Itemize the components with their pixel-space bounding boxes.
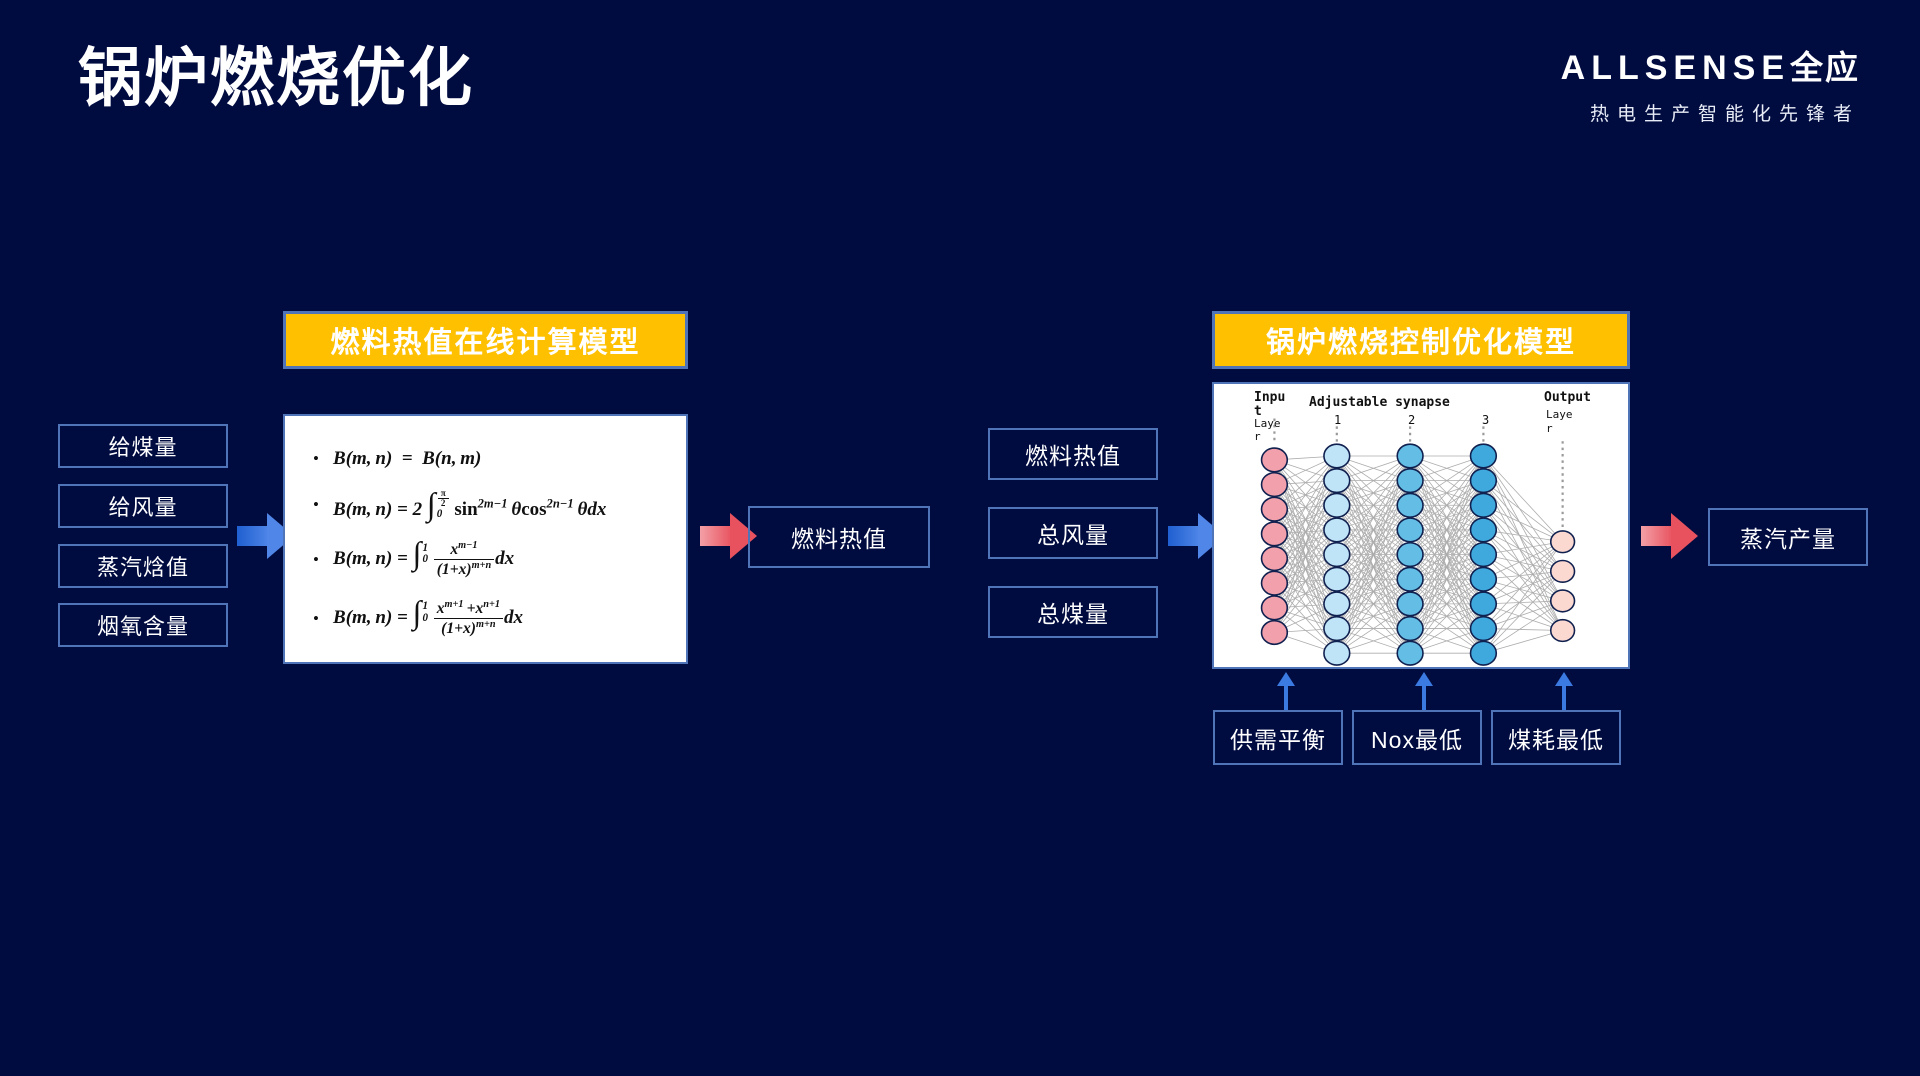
formula-math-2: B(m, n) = 2 ∫π20 sin2m−1 θcos2n−1 θdx [333, 489, 606, 521]
formula-row-2: • B(m, n) = 2 ∫π20 sin2m−1 θcos2n−1 θdx [299, 489, 672, 521]
hidden-layer-2-nodes [1397, 444, 1423, 665]
constraint-box-2[interactable]: Nox最低 [1352, 710, 1482, 765]
logo-brand-cn: 全应 [1790, 49, 1860, 86]
nn-input-layer-label-line1: Inpu [1254, 390, 1285, 405]
nn-output-layer-label-line1: Output [1544, 390, 1591, 405]
formula-row-3: • B(m, n) = ∫10 xm−1(1+x)m+ndx [299, 540, 672, 579]
formula-row-1: • B(m, n) = B(n, m) [299, 448, 672, 470]
arrow-head [1671, 513, 1698, 559]
formula-row-4: • B(m, n) = ∫10 xm+1 +xn+1(1+x)m+ndx [299, 599, 672, 638]
arrow-shaft [1641, 526, 1673, 546]
arrow-model2-to-output [1641, 513, 1697, 559]
arrow-shaft [1562, 684, 1566, 712]
stage1-input-box-3[interactable]: 蒸汽焓值 [58, 544, 228, 588]
nn-input-layer-label-line4: r [1254, 430, 1261, 443]
nn-input-layer-label-line3: Laye [1254, 417, 1281, 430]
stage2-input-label-3: 总煤量 [1037, 595, 1109, 629]
stage2-input-box-1[interactable]: 燃料热值 [988, 428, 1158, 480]
stage2-model-header: 锅炉燃烧控制优化模型 [1212, 311, 1630, 369]
constraint-label-1: 供需平衡 [1230, 721, 1326, 755]
arrow-shaft [700, 526, 732, 546]
nn-output-layer-label-line2: Laye [1546, 408, 1573, 421]
stage1-input-label-4: 烟氧含量 [97, 609, 189, 641]
stage1-formula-panel: • B(m, n) = B(n, m) • B(m, n) = 2 ∫π20 s… [283, 414, 688, 664]
hidden-layer-1-nodes [1324, 444, 1350, 665]
stage1-input-label-3: 蒸汽焓值 [97, 550, 189, 582]
stage2-input-box-3[interactable]: 总煤量 [988, 586, 1158, 638]
arrow-shaft [1168, 526, 1200, 546]
stage2-output-box[interactable]: 蒸汽产量 [1708, 508, 1868, 566]
logo-main-line: ALLSENSE全应 [1561, 48, 1860, 89]
arrow-constraint-3-up [1555, 672, 1573, 712]
formula-list: • B(m, n) = B(n, m) • B(m, n) = 2 ∫π20 s… [285, 416, 686, 662]
nn-synapse-label: Adjustable synapse [1309, 395, 1450, 410]
formula-bullet-2: • [299, 496, 333, 513]
formula-bullet-4: • [299, 610, 333, 627]
nn-synapse-number-3: 3 [1482, 413, 1489, 427]
arrow-shaft [237, 526, 269, 546]
stage1-output-box[interactable]: 燃料热值 [748, 506, 930, 568]
stage1-input-label-1: 给煤量 [108, 430, 177, 462]
stage1-input-box-2[interactable]: 给风量 [58, 484, 228, 528]
arrow-shaft [1284, 684, 1288, 712]
stage1-input-box-4[interactable]: 烟氧含量 [58, 603, 228, 647]
constraint-label-3: 煤耗最低 [1508, 721, 1604, 755]
stage1-input-label-2: 给风量 [108, 490, 177, 522]
stage2-output-label: 蒸汽产量 [1740, 520, 1836, 554]
input-layer-nodes [1262, 448, 1288, 644]
stage1-output-label: 燃料热值 [791, 520, 887, 554]
stage2-neural-network-panel: Inpu t Laye r Adjustable synapse 1 2 3 O… [1212, 382, 1630, 669]
arrow-shaft [1422, 684, 1426, 712]
nn-synapse-number-2: 2 [1408, 413, 1415, 427]
slide-root: 锅炉燃烧优化 ALLSENSE全应 热电生产智能化先锋者 给煤量 给风量 蒸汽焓… [0, 0, 1920, 1076]
arrow-constraint-1-up [1277, 672, 1295, 712]
logo-tagline: 热电生产智能化先锋者 [1561, 99, 1860, 126]
stage1-model-header-label: 燃料热值在线计算模型 [330, 319, 640, 361]
arrow-constraint-2-up [1415, 672, 1433, 712]
constraint-label-2: Nox最低 [1371, 721, 1463, 755]
formula-bullet-3: • [299, 551, 333, 568]
formula-math-1: B(m, n) = B(n, m) [333, 448, 481, 470]
formula-bullet-1: • [299, 450, 333, 467]
stage2-input-box-2[interactable]: 总风量 [988, 507, 1158, 559]
hidden-layer-3-nodes [1471, 444, 1497, 665]
stage2-model-header-label: 锅炉燃烧控制优化模型 [1266, 319, 1576, 361]
constraint-box-3[interactable]: 煤耗最低 [1491, 710, 1621, 765]
formula-math-3: B(m, n) = ∫10 xm−1(1+x)m+ndx [333, 540, 514, 579]
formula-math-4: B(m, n) = ∫10 xm+1 +xn+1(1+x)m+ndx [333, 599, 523, 638]
stage1-model-header: 燃料热值在线计算模型 [283, 311, 688, 369]
stage1-input-box-1[interactable]: 给煤量 [58, 424, 228, 468]
nn-synapse-number-1: 1 [1334, 413, 1341, 427]
page-title: 锅炉燃烧优化 [78, 42, 474, 116]
stage2-input-label-2: 总风量 [1037, 516, 1109, 550]
nn-output-layer-label-line3: r [1546, 422, 1553, 435]
stage2-input-label-1: 燃料热值 [1025, 437, 1121, 471]
logo-brand-en: ALLSENSE [1561, 49, 1790, 87]
constraint-box-1[interactable]: 供需平衡 [1213, 710, 1343, 765]
brand-logo: ALLSENSE全应 热电生产智能化先锋者 [1561, 48, 1860, 126]
